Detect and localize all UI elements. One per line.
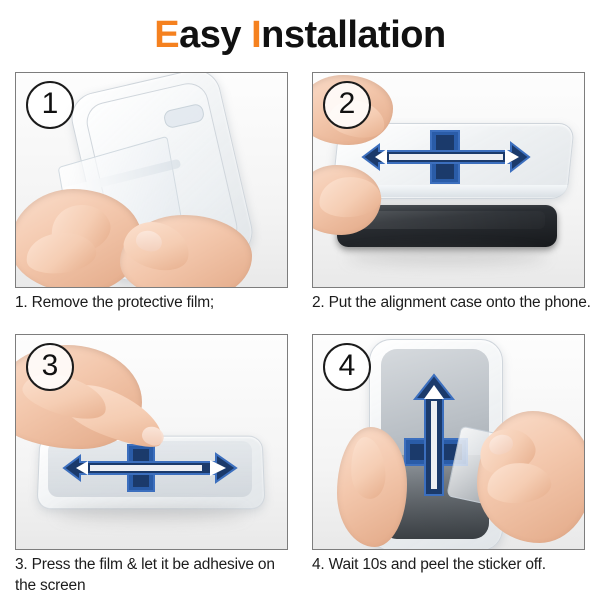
installation-instructions-page: Easy Installation xyxy=(0,0,600,600)
page-title-accent-e: E xyxy=(154,14,179,56)
page-title-accent-i: I xyxy=(251,14,261,56)
steps-grid: 1 hands-peeling-protective-film-from-cle… xyxy=(15,72,585,587)
page-title-rest-easy: asy xyxy=(179,14,251,56)
step-1-photo: 1 hands-peeling-protective-film-from-cle… xyxy=(15,72,288,288)
step-3-photo: PRESS & HOLD 3 finger-pressing-sticker-o… xyxy=(15,334,288,550)
step-1-caption: 1. Remove the protective film; xyxy=(15,292,297,313)
step-2-caption: 2. Put the alignment case onto the phone… xyxy=(312,292,594,313)
step-2-photo: PRESS & HOLD 2 alignment-case-lowered-on… xyxy=(312,72,585,288)
step-badge-4: 4 xyxy=(323,343,371,391)
step-badge-3: 3 xyxy=(26,343,74,391)
page-title-rest-installation: nstallation xyxy=(261,14,446,56)
step-1: 1 hands-peeling-protective-film-from-cle… xyxy=(15,72,288,288)
case-shadow xyxy=(56,507,246,521)
step-badge-2: 2 xyxy=(323,81,371,129)
step-3: PRESS & HOLD 3 finger-pressing-sticker-o… xyxy=(15,334,288,550)
step-4-photo: PEEL OFF 4 hands-peeling-sticker-off-upr… xyxy=(312,334,585,550)
step-badge-1: 1 xyxy=(26,81,74,129)
page-title: Easy Installation xyxy=(0,12,600,58)
phone-shadow xyxy=(347,249,547,265)
step-4: PEEL OFF 4 hands-peeling-sticker-off-upr… xyxy=(312,334,585,550)
step-2: PRESS & HOLD 2 alignment-case-lowered-on… xyxy=(312,72,585,288)
alignment-sticker xyxy=(60,443,240,493)
alignment-sticker xyxy=(357,129,533,185)
step-3-caption: 3. Press the film & let it be adhesive o… xyxy=(15,554,297,596)
step-4-caption: 4. Wait 10s and peel the sticker off. xyxy=(312,554,594,575)
